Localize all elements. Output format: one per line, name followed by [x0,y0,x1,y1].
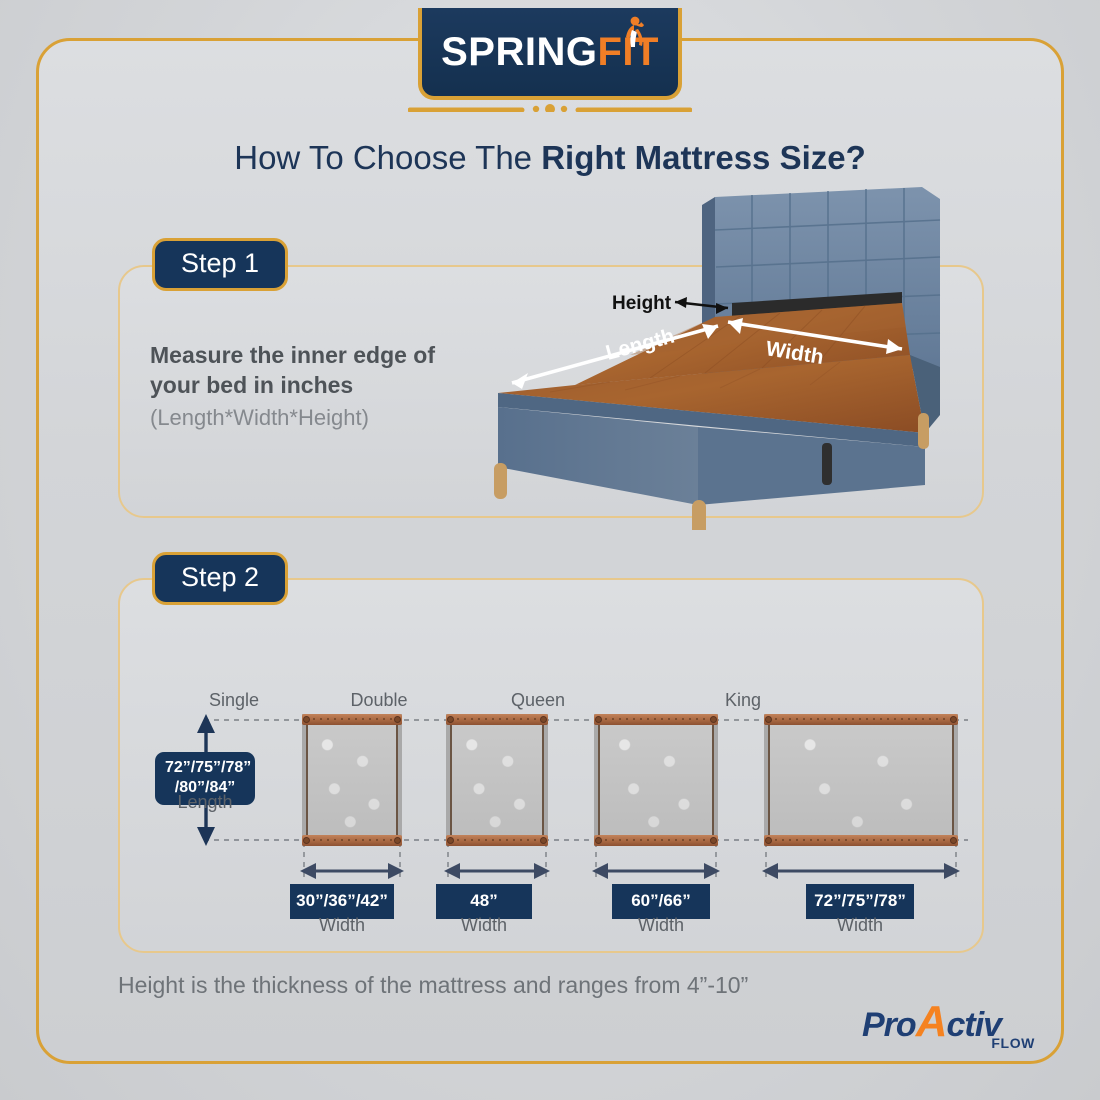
bed-illustration: Length Width Height [470,185,980,530]
width-arrow-double [444,863,550,879]
width-arrows [300,863,960,879]
mattress-double [446,714,548,846]
width-arrow-queen [592,863,720,879]
width-guide-lines [304,842,956,878]
logo-underline-ornament [408,98,692,112]
mattress-surface-king [768,723,954,837]
proactiv-a: A [916,997,947,1046]
mattress-single [302,714,402,846]
bed-leg-right [918,413,929,449]
proactiv-logo: ProActiv FLOW [862,1000,1037,1052]
brand-logo-text: SPRINGFIT [441,32,659,72]
mattress-rail-top-king [764,714,958,725]
mattress-rail-top-queen [594,714,718,725]
mattress-rail-bottom-king [764,835,958,846]
brand-logo-box: SPRINGFIT [418,8,682,100]
step2-badge: Step 2 [152,552,288,605]
mattress-rail-top-single [302,714,402,725]
proactiv-flow: FLOW [991,1035,1035,1051]
step1-badge: Step 1 [152,238,288,291]
step1-subline: (Length*Width*Height) [150,404,480,433]
mattress-rail-bottom-single [302,835,402,846]
page-title: How To Choose The Right Mattress Size? [0,138,1100,178]
infographic-page: SPRINGFIT How To Choose The Right Mattre… [0,0,1100,1100]
proactiv-pro: Pro [862,1006,916,1044]
width-arrow-single [300,863,404,879]
mattress-rail-top-double [446,714,548,725]
page-title-bold: Right Mattress Size? [541,139,866,176]
mattress-king [764,714,958,846]
length-caption: Length [155,792,255,813]
width-arrow-king [762,863,960,879]
footer-note: Height is the thickness of the mattress … [118,972,748,999]
logo-spring-text: SPRING [441,30,597,74]
bed-leg-front [692,500,706,530]
mattress-surface-single [306,723,398,837]
jumping-figure-icon [623,16,645,50]
logo-fit-text: FIT [597,30,658,74]
mattress-rail-bottom-double [446,835,548,846]
mattress-rail-bottom-queen [594,835,718,846]
mattress-queen [594,714,718,846]
page-title-light: How To Choose The [234,139,541,176]
length-value-line1: 72”/75”/78” [165,758,245,778]
step1-copy: Measure the inner edge of your bed in in… [150,340,480,432]
bed-leg-rear [822,443,832,485]
mattress-surface-queen [598,723,714,837]
step1-headline: Measure the inner edge of your bed in in… [150,340,480,401]
bed-leg-left [494,463,507,499]
mattress-surface-double [450,723,544,837]
bed-label-height: Height [612,293,672,314]
